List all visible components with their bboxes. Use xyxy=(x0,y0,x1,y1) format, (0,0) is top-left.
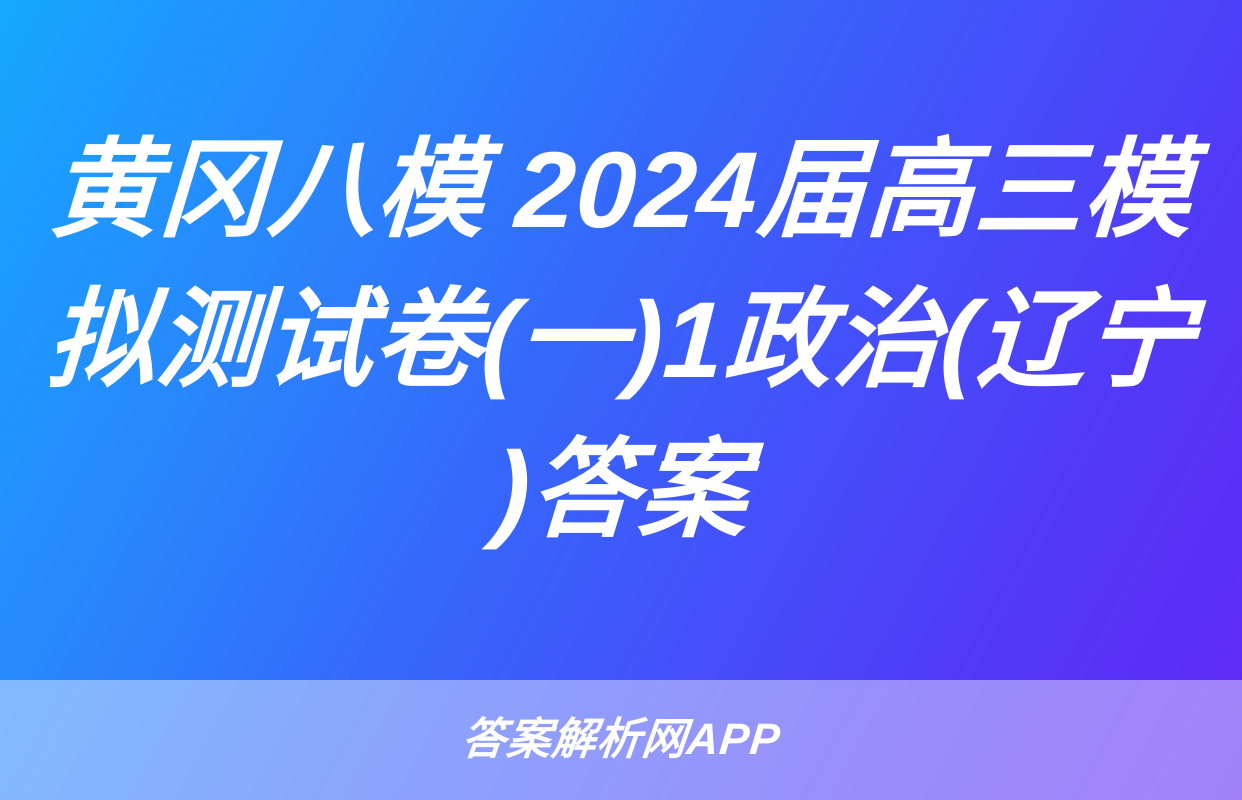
watermark-brand-label: 答案解析网APP xyxy=(459,718,782,762)
page-title-line-1: 黄冈八模 2024届高三模 xyxy=(47,115,1196,265)
answer-poster-card: 黄冈八模 2024届高三模 拟测试卷(一)1政治(辽宁 )答案 答案解析网APP xyxy=(0,0,1242,800)
page-title-line-3: )答案 xyxy=(490,415,751,565)
poster-title-block: 黄冈八模 2024届高三模 拟测试卷(一)1政治(辽宁 )答案 xyxy=(0,0,1242,680)
watermark-band: 答案解析网APP xyxy=(0,680,1242,800)
page-title-line-2: 拟测试卷(一)1政治(辽宁 xyxy=(44,265,1198,415)
